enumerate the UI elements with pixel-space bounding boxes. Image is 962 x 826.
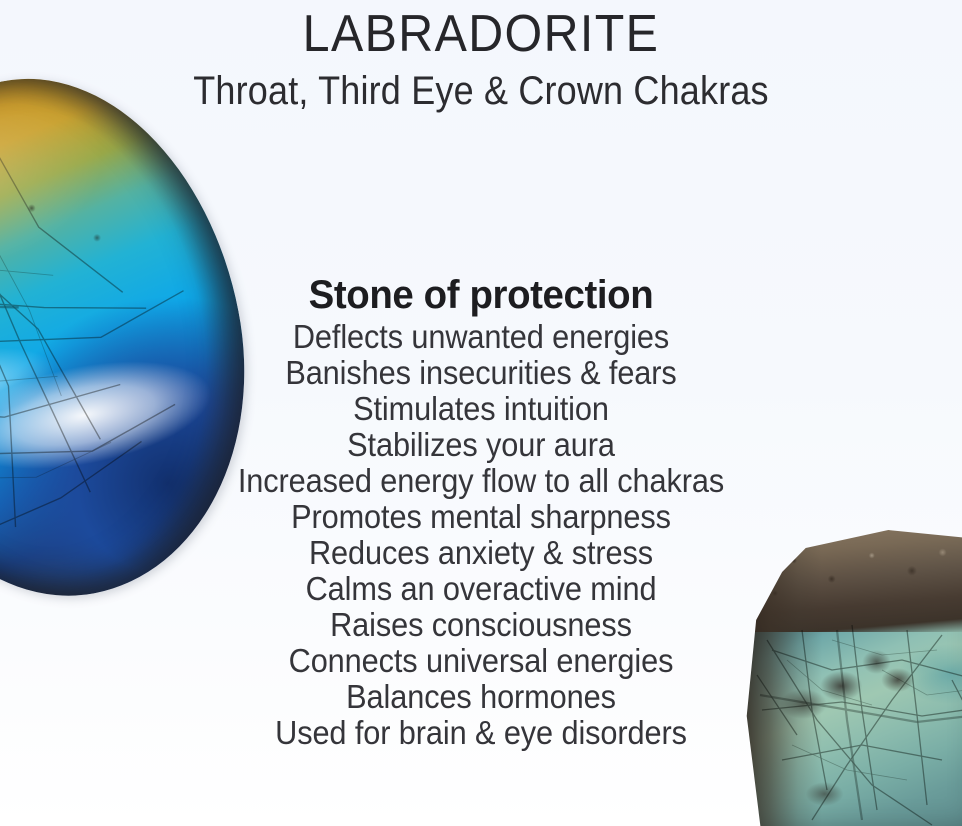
benefit-item: Stimulates intuition (34, 391, 929, 427)
benefit-item: Calms an overactive mind (34, 571, 929, 607)
benefit-item: Stabilizes your aura (34, 427, 929, 463)
benefit-item: Banishes insecurities & fears (34, 355, 929, 391)
benefit-item: Connects universal energies (34, 643, 929, 679)
benefit-item: Used for brain & eye disorders (34, 715, 929, 751)
benefits-block: Stone of protection Deflects unwanted en… (0, 272, 962, 751)
page-title: LABRADORITE (34, 6, 929, 62)
benefit-item: Raises consciousness (34, 607, 929, 643)
benefit-item: Reduces anxiety & stress (34, 535, 929, 571)
page-subtitle: Throat, Third Eye & Crown Chakras (48, 69, 914, 113)
benefit-item: Promotes mental sharpness (34, 499, 929, 535)
benefit-item: Increased energy flow to all chakras (34, 463, 929, 499)
labradorite-infographic: LABRADORITE Throat, Third Eye & Crown Ch… (0, 0, 962, 826)
benefit-item: Deflects unwanted energies (34, 319, 929, 355)
benefit-item: Balances hormones (34, 679, 929, 715)
benefits-heading: Stone of protection (19, 272, 943, 318)
